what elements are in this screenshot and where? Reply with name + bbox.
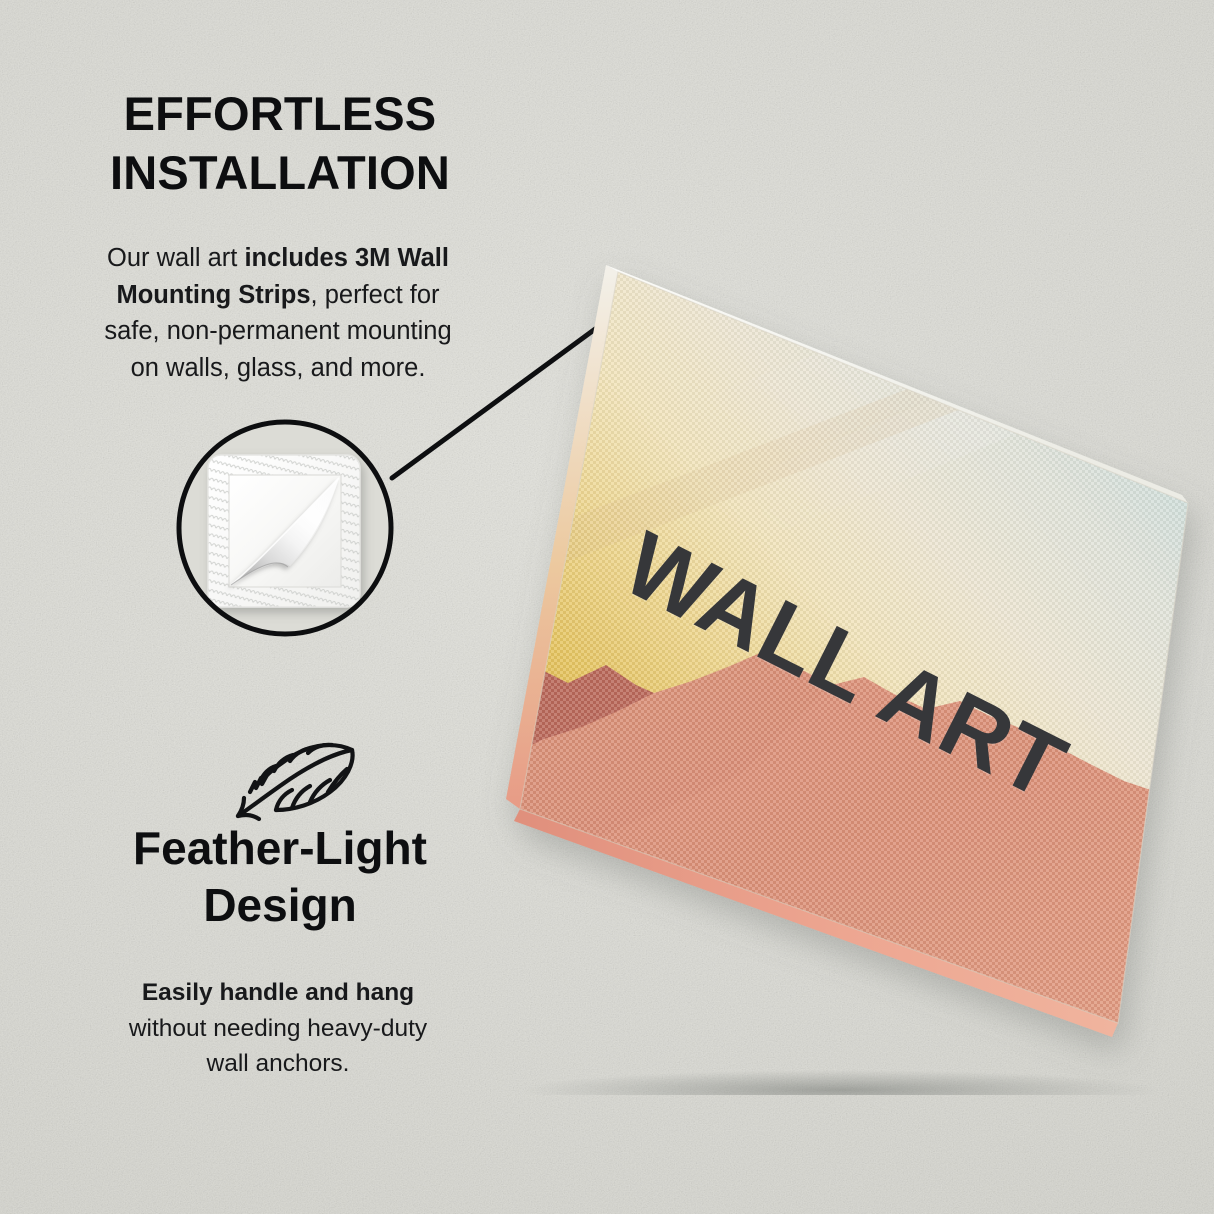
body-bold-1: includes 3M Wall — [244, 244, 449, 272]
feather-icon — [222, 730, 367, 830]
body-lead: Our wall art — [107, 244, 244, 272]
sub-copy-bold: Easily handle and hang — [142, 979, 414, 1006]
mounting-strip-callout — [176, 409, 394, 647]
canvas-drop-shadow — [520, 1070, 1160, 1095]
page-title: EFFORTLESS INSTALLATION — [0, 84, 560, 202]
headline-line-2: INSTALLATION — [0, 143, 560, 202]
body-bold-2: Mounting Strips — [116, 281, 310, 309]
body-rest-1: , perfect for — [311, 281, 440, 309]
headline-line-1: EFFORTLESS — [0, 84, 560, 143]
